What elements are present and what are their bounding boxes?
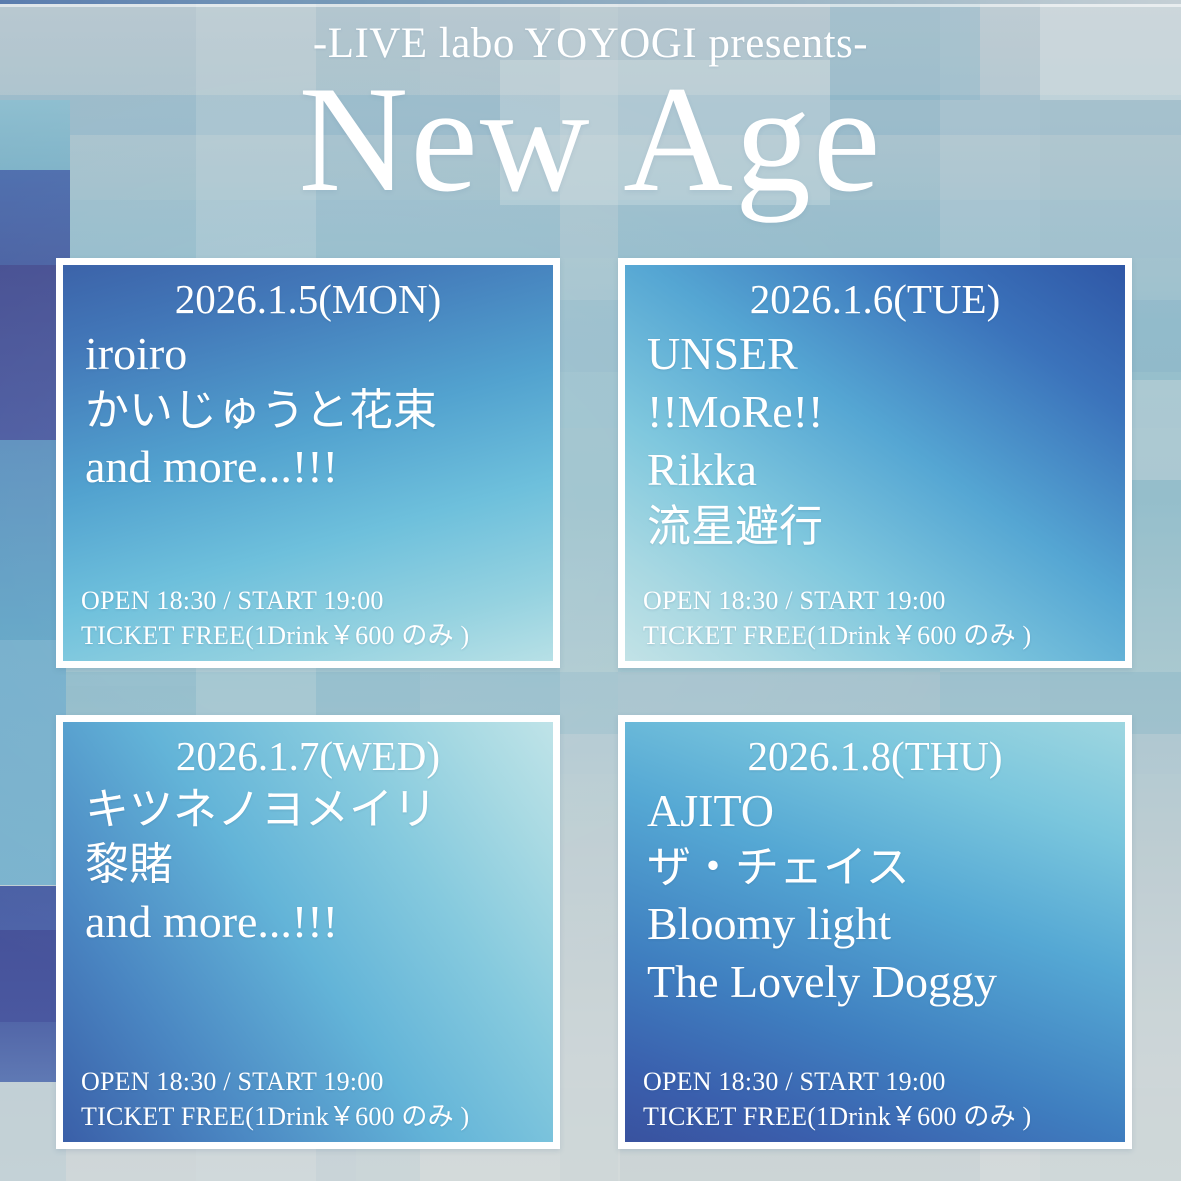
panel-1-date: 2026.1.5(MON) (63, 273, 553, 325)
event-flyer: -LIVE labo YOYOGI presents- New Age 2026… (0, 0, 1181, 1181)
panel-4-act-list: AJITO ザ・チェイス Bloomy light The Lovely Dog… (625, 782, 1125, 1011)
date-panel-4[interactable]: 2026.1.8(THU) AJITO ザ・チェイス Bloomy light … (618, 715, 1132, 1149)
panel-2-date: 2026.1.6(TUE) (625, 273, 1125, 325)
panel-4-footer: OPEN 18:30 / START 19:00 TICKET FREE(1Dr… (643, 1065, 1031, 1134)
list-item: 黎賭 (85, 837, 553, 892)
panel-3-act-list: キツネノヨメイリ 黎賭 and more...!!! (63, 782, 553, 951)
list-item: !!MoRe!! (647, 383, 1125, 441)
panel-3-date: 2026.1.7(WED) (63, 730, 553, 782)
event-title: New Age (0, 57, 1181, 221)
panel-4-date: 2026.1.8(THU) (625, 730, 1125, 782)
list-item: and more...!!! (85, 893, 553, 951)
date-panel-1[interactable]: 2026.1.5(MON) iroiro かいじゅうと花束 and more..… (56, 258, 560, 668)
panel-1-ticket: TICKET FREE(1Drink￥600 のみ ) (81, 619, 469, 653)
list-item: UNSER (647, 325, 1125, 383)
list-item: iroiro (85, 325, 553, 383)
date-panel-3-inner: 2026.1.7(WED) キツネノヨメイリ 黎賭 and more...!!!… (63, 722, 553, 1142)
panel-2-open-start: OPEN 18:30 / START 19:00 (643, 584, 1031, 618)
date-panel-4-inner: 2026.1.8(THU) AJITO ザ・チェイス Bloomy light … (625, 722, 1125, 1142)
panel-1-footer: OPEN 18:30 / START 19:00 TICKET FREE(1Dr… (81, 584, 469, 653)
list-item: and more...!!! (85, 438, 553, 496)
date-panel-3[interactable]: 2026.1.7(WED) キツネノヨメイリ 黎賭 and more...!!!… (56, 715, 560, 1149)
panel-2-footer: OPEN 18:30 / START 19:00 TICKET FREE(1Dr… (643, 584, 1031, 653)
panel-4-open-start: OPEN 18:30 / START 19:00 (643, 1065, 1031, 1099)
date-panel-2-inner: 2026.1.6(TUE) UNSER !!MoRe!! Rikka 流星避行 … (625, 265, 1125, 661)
list-item: ザ・チェイス (647, 840, 1125, 895)
panel-2-ticket: TICKET FREE(1Drink￥600 のみ ) (643, 619, 1031, 653)
panel-3-open-start: OPEN 18:30 / START 19:00 (81, 1065, 469, 1099)
list-item: AJITO (647, 782, 1125, 840)
list-item: Rikka (647, 441, 1125, 499)
panel-3-footer: OPEN 18:30 / START 19:00 TICKET FREE(1Dr… (81, 1065, 469, 1134)
list-item: 流星避行 (647, 499, 1125, 554)
panel-1-open-start: OPEN 18:30 / START 19:00 (81, 584, 469, 618)
list-item: キツネノヨメイリ (85, 782, 553, 837)
flyer-header: -LIVE labo YOYOGI presents- New Age (0, 0, 1181, 221)
panel-2-act-list: UNSER !!MoRe!! Rikka 流星避行 (625, 325, 1125, 554)
panel-3-ticket: TICKET FREE(1Drink￥600 のみ ) (81, 1100, 469, 1134)
list-item: The Lovely Doggy (647, 953, 1125, 1011)
date-panel-1-inner: 2026.1.5(MON) iroiro かいじゅうと花束 and more..… (63, 265, 553, 661)
list-item: Bloomy light (647, 895, 1125, 953)
list-item: かいじゅうと花束 (85, 383, 553, 438)
panel-4-ticket: TICKET FREE(1Drink￥600 のみ ) (643, 1100, 1031, 1134)
panel-1-act-list: iroiro かいじゅうと花束 and more...!!! (63, 325, 553, 496)
date-panel-2[interactable]: 2026.1.6(TUE) UNSER !!MoRe!! Rikka 流星避行 … (618, 258, 1132, 668)
